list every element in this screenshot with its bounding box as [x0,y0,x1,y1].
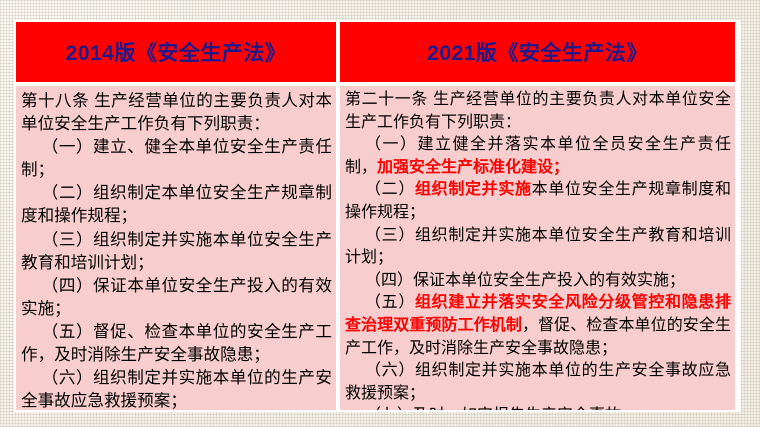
clause-text: （三）组织制定并实施本单位安全生产教育和培训计划； [21,230,332,272]
clause-text: （六）组织制定并实施本单位的生产安全事故应急救援预案； [21,368,332,410]
clause-text: （七）及时、如实报告生产安全事故。 [365,407,637,410]
clause-text: （五）督促、检查本单位的安全生产工作，及时消除生产安全事故隐患； [21,322,332,364]
table-column-law-2021: 2021版《安全生产法》 第二十一条 生产经营单位的主要负责人对本单位安全生产工… [340,22,735,410]
clause-text: （四）保证本单位安全生产投入的有效实施； [365,272,685,289]
law-comparison-table: 2014版《安全生产法》 第十八条 生产经营单位的主要负责人对本单位安全生产工作… [14,20,741,412]
law-clause-paragraph: （二）组织制定本单位安全生产规章制度和操作规程； [21,181,332,227]
law-clause-paragraph: （四）保证本单位安全生产投入的有效实施； [345,270,731,293]
column-body-law-2021: 第二十一条 生产经营单位的主要负责人对本单位安全生产工作负有下列职责：（一）建立… [340,86,735,410]
law-clause-paragraph: （一）建立、健全本单位安全生产责任制； [21,135,332,181]
law-clause-paragraph: （六）组织制定并实施本单位的生产安全事故应急救援预案； [21,366,332,410]
table-column-law-2014: 2014版《安全生产法》 第十八条 生产经营单位的主要负责人对本单位安全生产工作… [16,22,336,410]
law-clause-paragraph: 第十八条 生产经营单位的主要负责人对本单位安全生产工作负有下列职责： [21,89,332,135]
clause-text: （一）建立、健全本单位安全生产责任制； [21,137,332,179]
clause-text: （六）组织制定并实施本单位的生产安全事故应急救援预案； [345,362,731,402]
law-clause-paragraph: （五）组织建立并落实安全风险分级管控和隐患排查治理双重预防工作机制，督促、检查本… [345,292,731,360]
highlighted-amendment-text: 加强安全生产标准化建设； [377,159,569,176]
clause-text: （三）组织制定并实施本单位安全生产教育和培训计划； [345,227,731,267]
clause-text: 第二十一条 生产经营单位的主要负责人对本单位安全生产工作负有下列职责： [345,91,731,131]
clause-text: （五） [365,294,415,311]
column-body-law-2014: 第十八条 生产经营单位的主要负责人对本单位安全生产工作负有下列职责：（一）建立、… [16,86,336,410]
law-clause-paragraph: （三）组织制定并实施本单位安全生产教育和培训计划； [21,228,332,274]
column-header-law-2014: 2014版《安全生产法》 [16,22,336,82]
clause-text: （二）组织制定本单位安全生产规章制度和操作规程； [21,183,332,225]
law-clause-paragraph: （七）及时、如实报告生产安全事故。 [345,405,731,410]
clause-text: （二） [365,181,415,198]
law-clause-paragraph: （一）建立健全并落实本单位全员安全生产责任制，加强安全生产标准化建设； [345,134,731,179]
law-clause-paragraph: （二）组织制定并实施本单位安全生产规章制度和操作规程； [345,179,731,224]
column-header-law-2021: 2021版《安全生产法》 [340,22,735,82]
column-header-title-law-2014: 2014版《安全生产法》 [66,37,287,67]
clause-text: 第十八条 生产经营单位的主要负责人对本单位安全生产工作负有下列职责： [21,91,332,133]
law-clause-paragraph: （五）督促、检查本单位的安全生产工作，及时消除生产安全事故隐患； [21,320,332,366]
law-clause-paragraph: 第二十一条 生产经营单位的主要负责人对本单位安全生产工作负有下列职责： [345,89,731,134]
law-clause-paragraph: （三）组织制定并实施本单位安全生产教育和培训计划； [345,225,731,270]
law-clause-paragraph: （四）保证本单位安全生产投入的有效实施； [21,274,332,320]
clause-text: （四）保证本单位安全生产投入的有效实施； [21,276,332,318]
law-clause-paragraph: （六）组织制定并实施本单位的生产安全事故应急救援预案； [345,360,731,405]
column-header-title-law-2021: 2021版《安全生产法》 [427,37,648,67]
highlighted-amendment-text: 组织制定并实施 [415,181,532,198]
